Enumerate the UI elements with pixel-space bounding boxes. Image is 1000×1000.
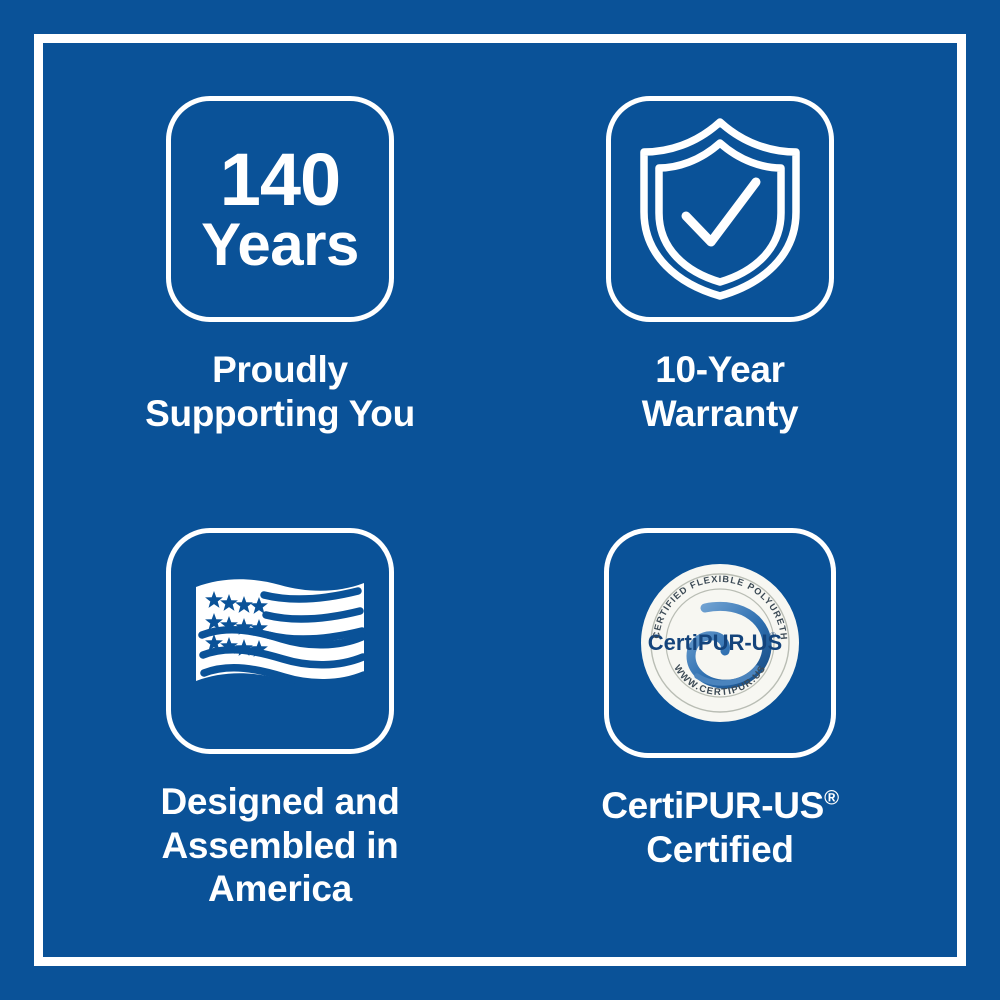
shield-check-icon (606, 96, 834, 322)
badge-caption-warranty: 10-Year Warranty (642, 348, 799, 435)
shield-check-glyph (630, 116, 810, 302)
badge-made-in-america: Designed and Assembled in America (60, 500, 500, 940)
badge-caption-america: Designed and Assembled in America (161, 780, 400, 911)
badge-warranty: 10-Year Warranty (500, 60, 940, 500)
caption-line-2: Assembled in (161, 824, 400, 868)
caption-line-3: America (161, 867, 400, 911)
trust-badges-panel: 140 Years Proudly Supporting You 10-Year (0, 0, 1000, 1000)
caption-line-2: Certified (601, 828, 839, 872)
caption-line-1: 10-Year (642, 348, 799, 392)
caption-line-1: CertiPUR-US® (601, 784, 839, 828)
badge-140-years: 140 Years Proudly Supporting You (60, 60, 500, 500)
badge-caption-years: Proudly Supporting You (145, 348, 415, 435)
certipur-center-text: CertiPUR-US (648, 630, 782, 655)
certipur-seal-circle: CertiPUR-US ® CONTAINS CERTIFIED FLEXIBL… (641, 564, 799, 722)
caption-line-1: Proudly (145, 348, 415, 392)
badge-grid: 140 Years Proudly Supporting You 10-Year (60, 60, 940, 940)
registered-mark: ® (824, 788, 839, 810)
years-stack: 140 Years (201, 145, 359, 275)
usa-flag-glyph (192, 573, 368, 709)
badge-certipur: CertiPUR-US ® CONTAINS CERTIFIED FLEXIBL… (500, 500, 940, 940)
years-unit-label: Years (201, 215, 359, 275)
caption-line-2: Supporting You (145, 392, 415, 436)
140-years-icon: 140 Years (166, 96, 394, 322)
certipur-seal-glyph: CertiPUR-US ® CONTAINS CERTIFIED FLEXIBL… (641, 564, 799, 722)
usa-flag-icon (166, 528, 394, 754)
caption-line-1: Designed and (161, 780, 400, 824)
certipur-us-seal-icon: CertiPUR-US ® CONTAINS CERTIFIED FLEXIBL… (604, 528, 836, 758)
caption-line-2: Warranty (642, 392, 799, 436)
years-number: 140 (220, 145, 340, 215)
badge-caption-certipur: CertiPUR-US® Certified (601, 784, 839, 871)
certipur-name: CertiPUR-US (601, 785, 824, 826)
certipur-registered-mark: ® (770, 631, 776, 640)
